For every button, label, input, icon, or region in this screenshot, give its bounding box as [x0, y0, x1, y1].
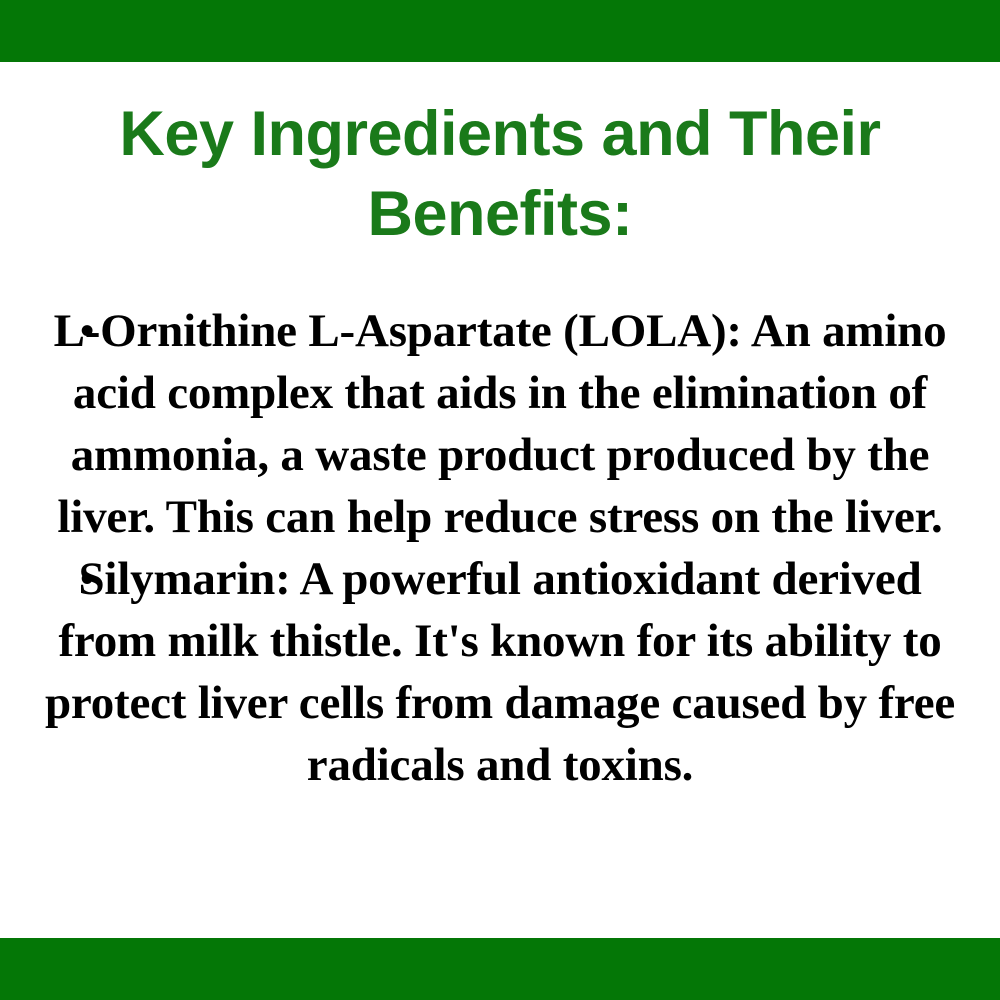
page-title: Key Ingredients and Their Benefits:: [18, 62, 982, 254]
bullet-point-icon: •: [76, 300, 98, 362]
bullet-point-icon: •: [76, 548, 98, 610]
list-item: • Silymarin: A powerful antioxidant deri…: [18, 548, 982, 796]
list-item-text: Silymarin: A powerful antioxidant derive…: [44, 548, 956, 796]
top-green-bar: [0, 0, 1000, 62]
bottom-green-bar: [0, 938, 1000, 1000]
slide-content: Key Ingredients and Their Benefits: • L-…: [0, 62, 1000, 938]
benefits-list: • L-Ornithine L-Aspartate (LOLA): An ami…: [18, 300, 982, 796]
list-item-text: L-Ornithine L-Aspartate (LOLA): An amino…: [44, 300, 956, 548]
infographic-slide: Key Ingredients and Their Benefits: • L-…: [0, 0, 1000, 1000]
list-item: • L-Ornithine L-Aspartate (LOLA): An ami…: [18, 300, 982, 548]
